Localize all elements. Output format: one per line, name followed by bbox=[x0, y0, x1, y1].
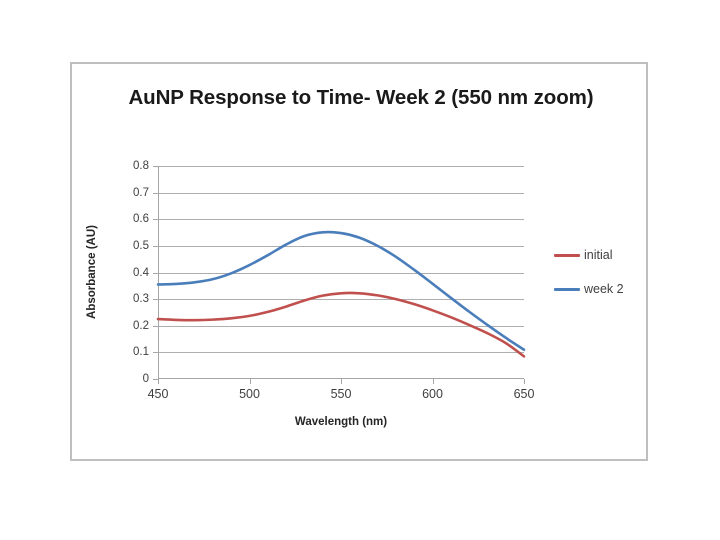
plot-area: 00.10.20.30.40.50.60.70.8 45050055060065… bbox=[158, 166, 524, 379]
legend-item[interactable]: week 2 bbox=[554, 282, 624, 296]
legend-swatch bbox=[554, 254, 580, 257]
y-axis-tick-label: 0.3 bbox=[133, 293, 149, 305]
legend: initialweek 2 bbox=[554, 248, 624, 296]
y-axis-title: Absorbance (AU) bbox=[86, 225, 98, 319]
y-axis-tick-label: 0.4 bbox=[133, 267, 149, 279]
x-axis-tick bbox=[250, 379, 251, 384]
series-lines bbox=[158, 166, 524, 379]
legend-label: week 2 bbox=[584, 282, 624, 296]
x-axis-tick-label: 500 bbox=[239, 387, 260, 401]
y-axis-tick-label: 0.7 bbox=[133, 187, 149, 199]
series-line-initial bbox=[158, 293, 524, 356]
y-axis-tick-label: 0.5 bbox=[133, 240, 149, 252]
y-axis-tick-label: 0 bbox=[143, 373, 149, 385]
x-axis-tick-label: 450 bbox=[148, 387, 169, 401]
x-axis-tick bbox=[158, 379, 159, 384]
y-axis-tick-label: 0.2 bbox=[133, 320, 149, 332]
y-axis-tick-label: 0.1 bbox=[133, 346, 149, 358]
legend-item[interactable]: initial bbox=[554, 248, 624, 262]
slide-canvas: AuNP Response to Time- Week 2 (550 nm zo… bbox=[0, 0, 720, 540]
x-axis-tick bbox=[433, 379, 434, 384]
x-axis-tick bbox=[341, 379, 342, 384]
x-axis-tick bbox=[524, 379, 525, 384]
x-axis-title: Wavelength (nm) bbox=[158, 416, 524, 428]
plot-area-wrapper: Absorbance (AU) Wavelength (nm) 00.10.20… bbox=[72, 64, 650, 463]
x-axis-tick-label: 600 bbox=[422, 387, 443, 401]
y-axis-tick-label: 0.6 bbox=[133, 213, 149, 225]
x-axis-tick-label: 550 bbox=[331, 387, 352, 401]
legend-label: initial bbox=[584, 248, 613, 262]
x-axis-tick-label: 650 bbox=[514, 387, 535, 401]
series-line-week-2 bbox=[158, 232, 524, 350]
chart-frame: AuNP Response to Time- Week 2 (550 nm zo… bbox=[70, 62, 648, 461]
y-axis-tick-label: 0.8 bbox=[133, 160, 149, 172]
legend-swatch bbox=[554, 288, 580, 291]
